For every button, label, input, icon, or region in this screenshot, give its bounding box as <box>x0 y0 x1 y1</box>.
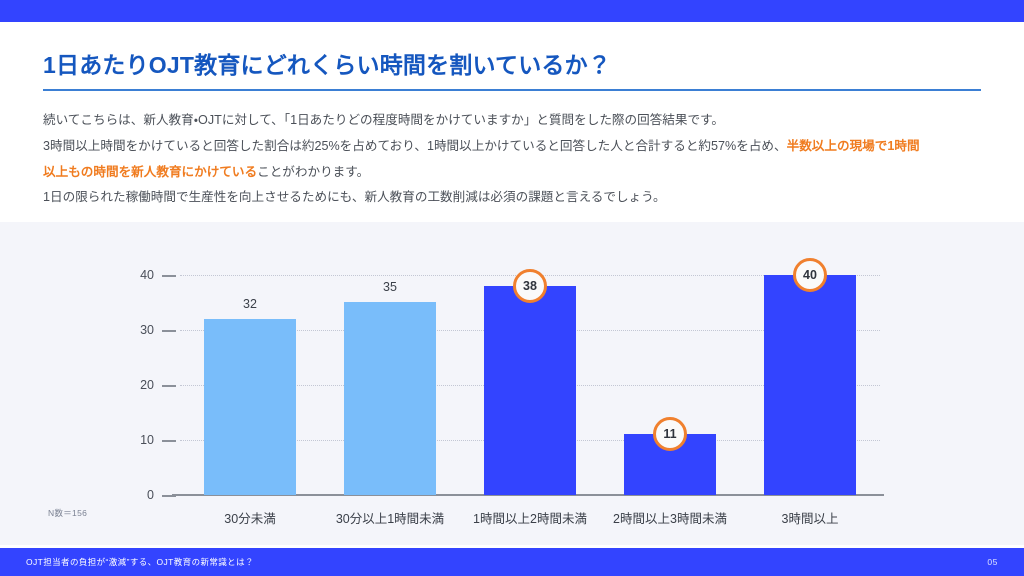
value-marker-4: 11 <box>653 417 687 451</box>
body-line-2-highlight: 半数以上の現場で1時間 <box>787 139 920 153</box>
body-line-3-text: ことがわかります。 <box>257 165 369 179</box>
body-line-1: 続いてこちらは、新人教育・OJTに対して、「1日あたりどの程度時間をかけています… <box>43 108 993 134</box>
bar-5[interactable] <box>764 275 856 495</box>
value-label-2: 35 <box>383 280 397 294</box>
body-copy: 続いてこちらは、新人教育・OJTに対して、「1日あたりどの程度時間をかけています… <box>43 108 993 211</box>
y-tick-label: 40 <box>118 268 154 282</box>
body-line-3-highlight: 以上もの時間を新人教育にかけている <box>43 165 257 179</box>
x-axis-label-4: 2時間以上3時間未満 <box>613 508 727 527</box>
y-tick-mark <box>162 330 176 332</box>
y-tick-label: 10 <box>118 433 154 447</box>
x-axis-label-1: 30分未満 <box>224 508 275 527</box>
body-line-4: 1日の限られた稼働時間で生産性を向上させるためにも、新人教育の工数削減は必須の課… <box>43 185 993 211</box>
bar-1[interactable] <box>204 319 296 495</box>
y-tick-label: 0 <box>118 488 154 502</box>
y-tick-mark <box>162 495 176 497</box>
x-axis-label-5: 3時間以上 <box>782 508 839 527</box>
footer-title: OJT担当者の負担が“激減”する、OJT教育の新常識とは？ <box>26 556 254 568</box>
slide-root: 1日あたりOJT教育にどれくらい時間を割いているか？ 続いてこちらは、新人教育・… <box>0 0 1024 576</box>
sample-size-note: N数＝156 <box>48 507 87 519</box>
body-line-2-text: 3時間以上時間をかけていると回答した割合は約25%を占めており、1時間以上かけて… <box>43 139 787 153</box>
x-axis-label-2: 30分以上1時間未満 <box>336 508 444 527</box>
title-underline <box>43 89 981 91</box>
top-accent-bar <box>0 0 1024 22</box>
page-title-block: 1日あたりOJT教育にどれくらい時間を割いているか？ <box>43 52 981 91</box>
bar-2[interactable] <box>344 302 436 495</box>
value-marker-3: 38 <box>513 269 547 303</box>
body-line-2: 3時間以上時間をかけていると回答した割合は約25%を占めており、1時間以上かけて… <box>43 134 993 160</box>
footer-bar: OJT担当者の負担が“激減”する、OJT教育の新常識とは？ 05 <box>0 548 1024 576</box>
value-marker-5: 40 <box>793 258 827 292</box>
y-tick-label: 30 <box>118 323 154 337</box>
footer-page-number: 05 <box>987 557 998 567</box>
chart-panel: N数＝156 010203040 3235381140 30分未満30分以上1時… <box>0 222 1024 545</box>
y-tick-label: 20 <box>118 378 154 392</box>
y-tick-mark <box>162 440 176 442</box>
y-tick-mark <box>162 385 176 387</box>
body-line-3: 以上もの時間を新人教育にかけていることがわかります。 <box>43 160 993 186</box>
x-axis-label-3: 1時間以上2時間未満 <box>473 508 587 527</box>
page-title: 1日あたりOJT教育にどれくらい時間を割いているか？ <box>43 52 981 80</box>
bar-3[interactable] <box>484 286 576 495</box>
value-label-1: 32 <box>243 297 257 311</box>
y-tick-mark <box>162 275 176 277</box>
